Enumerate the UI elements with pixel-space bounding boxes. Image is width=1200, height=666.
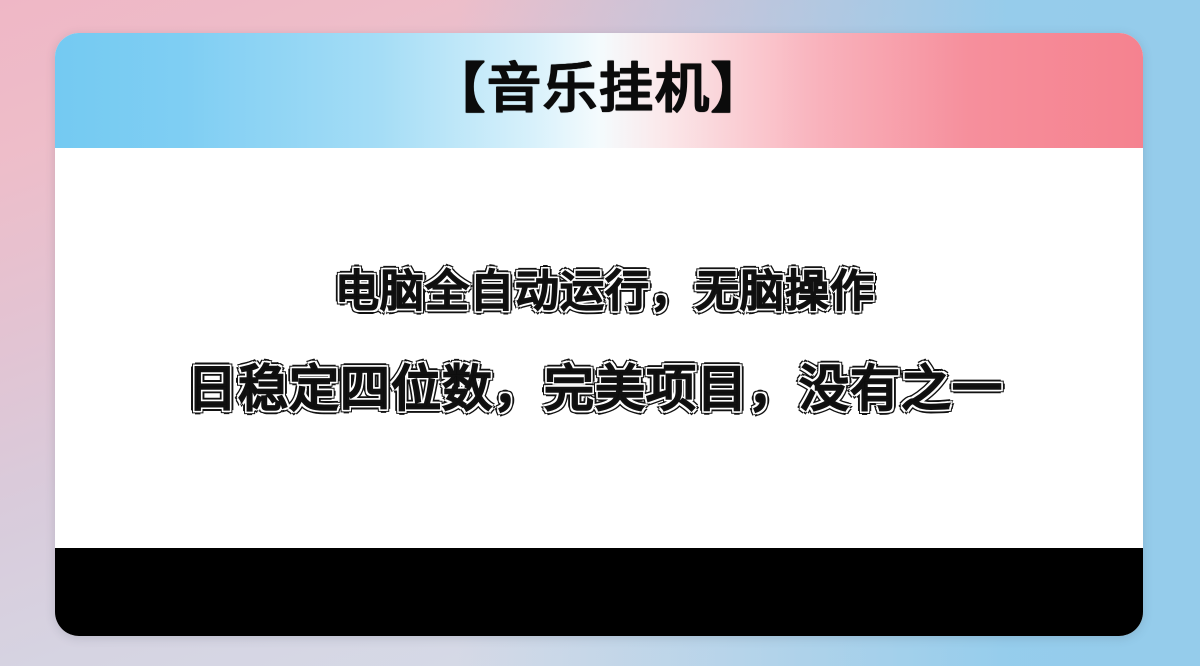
poster-card: 【音乐挂机】 电脑全自动运行，无脑操作 日稳定四位数，完美项目，没有之一 xyxy=(55,33,1143,636)
card-footer-bar xyxy=(55,548,1143,636)
card-header-banner: 【音乐挂机】 xyxy=(55,33,1143,148)
card-body: 电脑全自动运行，无脑操作 日稳定四位数，完美项目，没有之一 xyxy=(55,148,1143,548)
headline-line-2: 日稳定四位数，完美项目，没有之一 xyxy=(187,363,1003,416)
headline-line-1: 电脑全自动运行，无脑操作 xyxy=(335,269,875,315)
poster-canvas: 【音乐挂机】 电脑全自动运行，无脑操作 日稳定四位数，完美项目，没有之一 xyxy=(0,0,1200,666)
page-title: 【音乐挂机】 xyxy=(431,62,767,116)
